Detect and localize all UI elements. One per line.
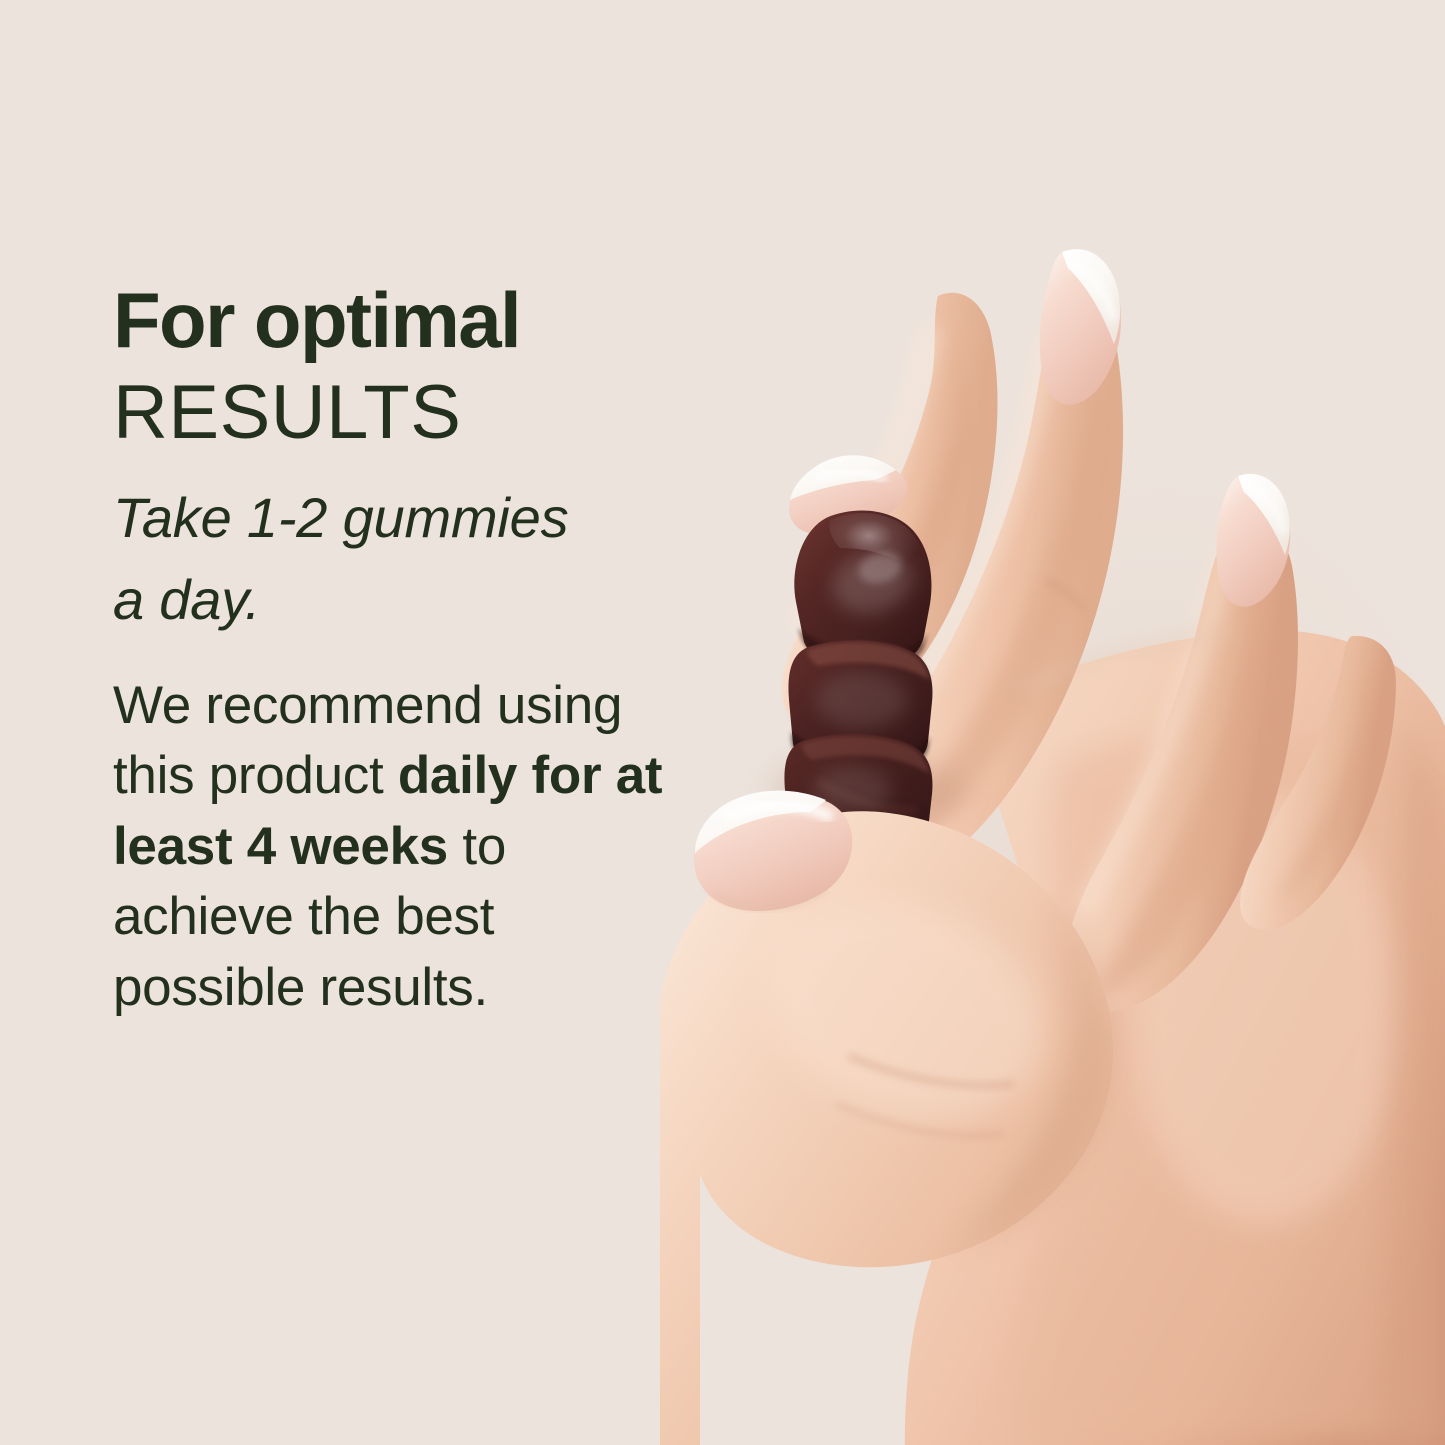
ring-finger [1066, 474, 1298, 1012]
instruction-text-block: For optimal RESULTS Take 1-2 gummies a d… [113, 283, 713, 1023]
headline-primary: For optimal [113, 283, 713, 358]
nail-thumb [694, 792, 853, 911]
nail-index [789, 457, 907, 535]
nail-ring [1216, 476, 1290, 607]
middle-finger [854, 249, 1123, 880]
usage-description: We recommend using this product daily fo… [113, 671, 683, 1023]
index-finger [782, 293, 998, 749]
dosage-subheading: Take 1-2 gummies a day. [113, 477, 593, 641]
pinky-finger [1240, 636, 1396, 930]
headline-secondary: RESULTS [113, 374, 713, 452]
stacked-gummies [772, 511, 964, 868]
hand-mass [905, 630, 1445, 1445]
gummy-bottom [784, 734, 932, 867]
gummy-middle [788, 640, 932, 776]
photo-edge-blend [1012, 632, 1236, 690]
thumb [660, 791, 1113, 1445]
nail-middle [1040, 251, 1121, 404]
product-instruction-card: For optimal RESULTS Take 1-2 gummies a d… [0, 0, 1445, 1445]
hand-ambient-shadow [690, 210, 1445, 1445]
gummy-top [794, 511, 931, 671]
